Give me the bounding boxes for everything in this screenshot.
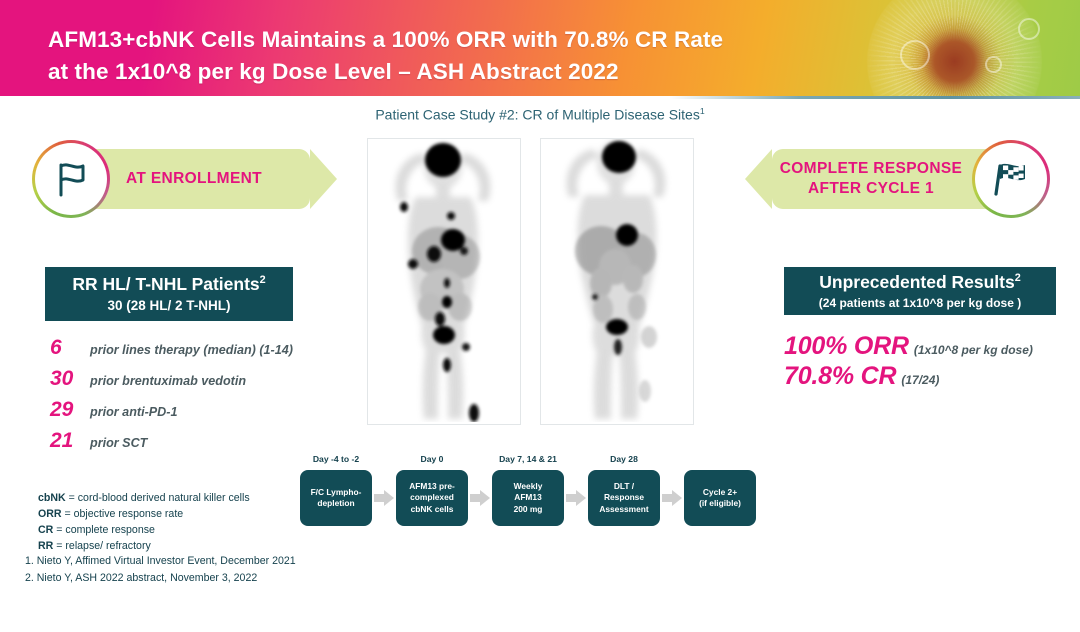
pet-scan-image-left [368,139,518,422]
abbrev-term: cbNK [38,492,66,504]
case-study-title-text: Patient Case Study #2: CR of Multiple Di… [375,107,700,123]
stat-label: prior brentuximab vedotin [90,374,246,388]
list-item: 100% ORR (1x10^8 per kg dose) [784,332,1080,362]
flow-day-label: Day 28 [576,454,672,464]
results-box-footnote-ref: 2 [1015,272,1021,284]
patients-box-title-text: RR HL/ T-NHL Patients [72,274,259,294]
patients-box-subtitle: 30 (28 HL/ 2 T-NHL) [107,298,230,315]
flow-day-label: Day -4 to -2 [288,454,384,464]
result-headline: 100% ORR [784,332,909,361]
flow-step-lymphodepletion[interactable]: F/C Lympho-depletion [300,470,372,526]
stat-value: 21 [44,429,90,453]
stat-label: prior anti-PD-1 [90,405,177,419]
flag-icon [48,156,94,202]
list-item: 70.8% CR (17/24) [784,362,1080,392]
pet-scan-image-right [541,139,691,422]
prior-therapy-stats-list: 6 prior lines therapy (median) (1-14) 30… [44,336,344,460]
stat-value: 6 [44,336,90,360]
list-item: RR = relapse/ refractory [38,538,250,554]
bubble-decoration-icon [985,56,1002,73]
patients-summary-box: RR HL/ T-NHL Patients2 30 (28 HL/ 2 T-NH… [45,267,293,321]
list-item: ORR = objective response rate [38,506,250,522]
flow-day-label: Day 0 [384,454,480,464]
at-enrollment-label: AT ENROLLMENT [126,169,262,189]
abbrev-definition: = complete response [56,524,155,536]
abbrev-term: ORR [38,508,62,520]
page-title-line-2: at the 1x10^8 per kg Dose Level – ASH Ab… [48,56,888,88]
pet-scan-after-cycle-1 [540,138,694,425]
bubble-decoration-icon [1018,18,1040,40]
case-study-title-footnote-ref: 1 [700,106,705,116]
list-item: 29 prior anti-PD-1 [44,398,344,429]
footnotes: 1. Nieto Y, Affimed Virtual Investor Eve… [25,553,296,587]
page-title: AFM13+cbNK Cells Maintains a 100% ORR wi… [48,24,888,88]
complete-response-line-2: AFTER CYCLE 1 [780,179,963,199]
checkered-flag-icon [988,156,1034,202]
treatment-schedule-flowchart: Day -4 to -2 Day 0 Day 7, 14 & 21 Day 28… [300,452,770,532]
list-item: 6 prior lines therapy (median) (1-14) [44,336,344,367]
pet-scan-at-enrollment [367,138,521,425]
slide-header: AFM13+cbNK Cells Maintains a 100% ORR wi… [0,0,1080,96]
flow-arrow-icon [662,490,682,506]
stat-value: 29 [44,398,90,422]
key-results-list: 100% ORR (1x10^8 per kg dose) 70.8% CR (… [784,332,1080,392]
footnote-1: 1. Nieto Y, Affimed Virtual Investor Eve… [25,553,296,570]
list-item: CR = complete response [38,522,250,538]
flow-step-cycle-2[interactable]: Cycle 2+(if eligible) [684,470,756,526]
result-detail: (1x10^8 per kg dose) [914,343,1033,357]
checkered-flag-icon-badge [972,140,1050,218]
result-detail: (17/24) [901,373,939,387]
list-item: cbNK = cord-blood derived natural killer… [38,490,250,506]
complete-response-line-1: COMPLETE RESPONSE [780,159,963,179]
results-summary-box: Unprecedented Results2 (24 patients at 1… [784,267,1056,315]
stat-label: prior lines therapy (median) (1-14) [90,343,293,357]
flow-arrow-icon [470,490,490,506]
dandelion-rays-graphic [867,0,1042,96]
list-item: 30 prior brentuximab vedotin [44,367,344,398]
stat-value: 30 [44,367,90,391]
complete-response-label: COMPLETE RESPONSE AFTER CYCLE 1 [780,159,963,199]
results-box-title: Unprecedented Results2 [819,272,1021,293]
patients-box-footnote-ref: 2 [260,274,266,286]
abbrev-definition: = relapse/ refractory [56,540,151,552]
header-divider [0,96,1080,99]
page-title-line-1: AFM13+cbNK Cells Maintains a 100% ORR wi… [48,24,888,56]
flow-arrow-icon [374,490,394,506]
abbreviations-legend: cbNK = cord-blood derived natural killer… [38,490,250,554]
flow-step-afm13-precomplexed[interactable]: AFM13 pre-complexedcbNK cells [396,470,468,526]
enrollment-arrow-right-icon [310,149,337,209]
patients-box-title: RR HL/ T-NHL Patients2 [72,274,265,295]
abbrev-definition: = cord-blood derived natural killer cell… [69,492,250,504]
flow-day-label: Day 7, 14 & 21 [480,454,576,464]
case-study-title: Patient Case Study #2: CR of Multiple Di… [0,106,1080,123]
result-headline: 70.8% CR [784,362,896,391]
abbrev-term: CR [38,524,53,536]
results-box-subtitle: (24 patients at 1x10^8 per kg dose ) [819,296,1021,311]
footnote-2: 2. Nieto Y, ASH 2022 abstract, November … [25,570,296,587]
bubble-decoration-icon [900,40,930,70]
flow-arrow-icon [566,490,586,506]
abbrev-definition: = objective response rate [65,508,184,520]
response-arrow-left-icon [745,149,772,209]
flow-step-weekly-afm13[interactable]: WeeklyAFM13200 mg [492,470,564,526]
abbrev-term: RR [38,540,53,552]
stat-label: prior SCT [90,436,147,450]
flag-icon-badge [32,140,110,218]
flow-step-dlt-response[interactable]: DLT /ResponseAssessment [588,470,660,526]
results-box-title-text: Unprecedented Results [819,272,1014,292]
